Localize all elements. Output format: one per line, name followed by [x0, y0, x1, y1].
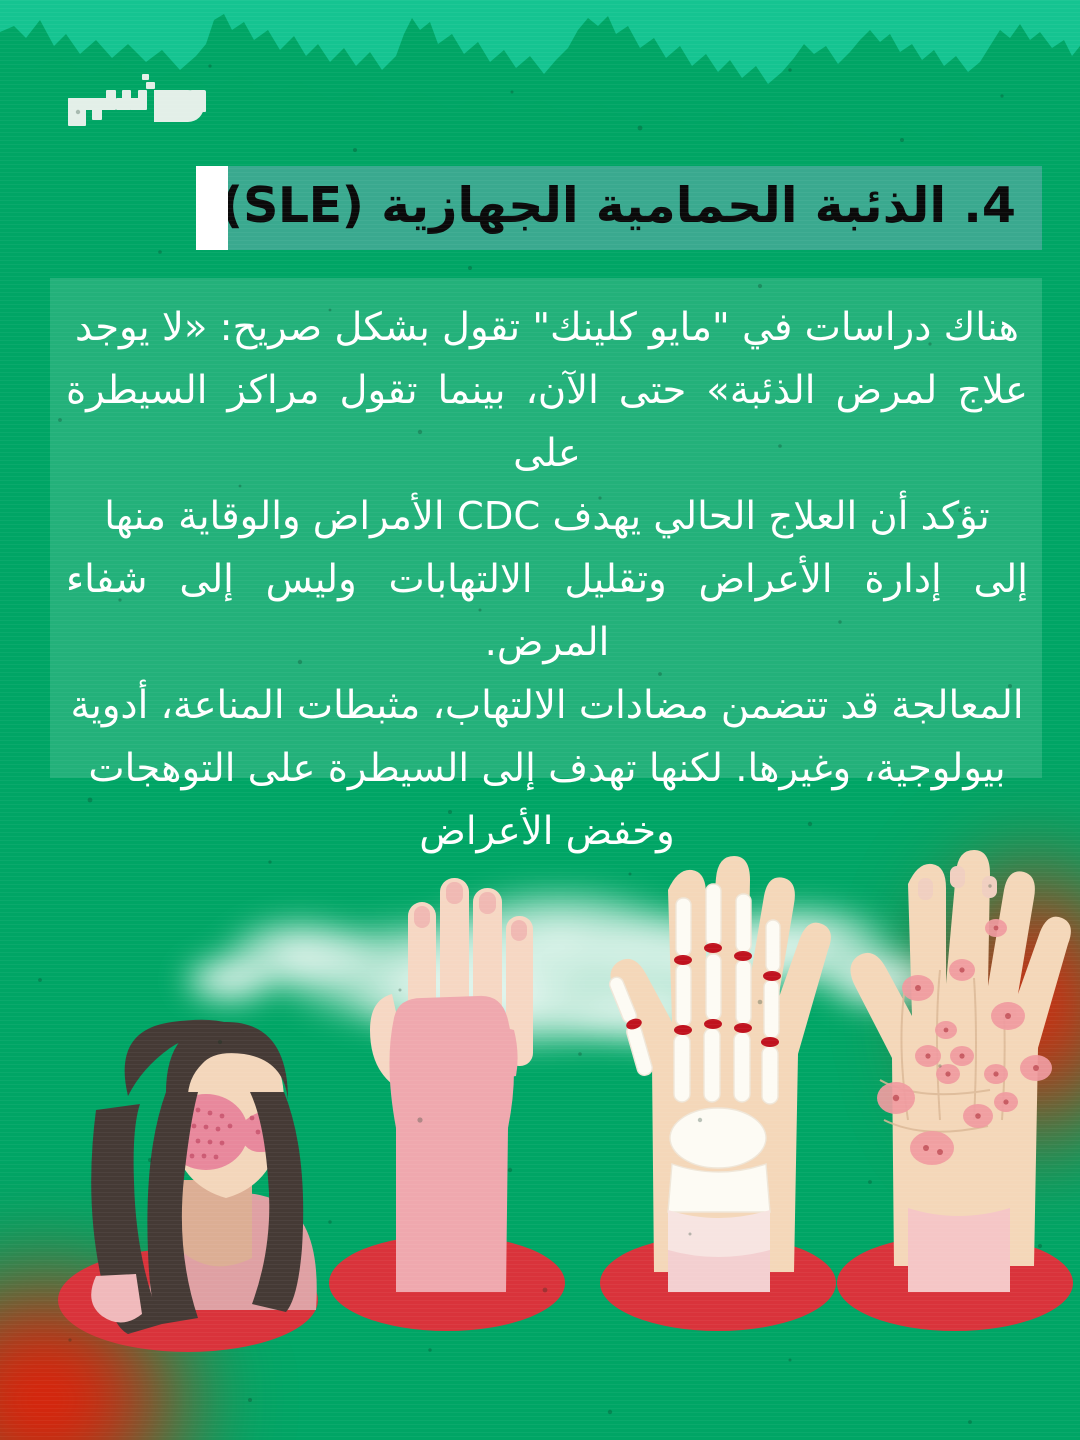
grain-noise-texture: [0, 0, 1080, 1440]
poster-canvas: 4. الذئبة الحمامية الجهازية (SLE) هناك د…: [0, 0, 1080, 1440]
